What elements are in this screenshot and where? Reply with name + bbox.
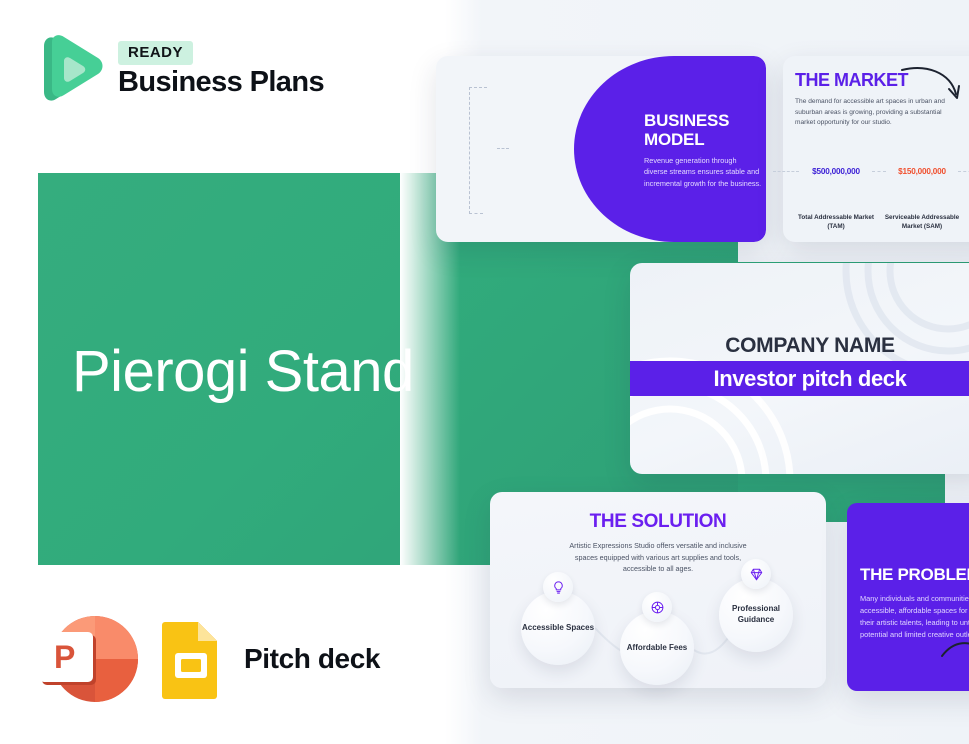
powerpoint-icon: P (38, 615, 138, 703)
diamond-icon (741, 559, 771, 589)
solution-pillar-label: Professional Guidance (719, 604, 793, 626)
connector-bottom (469, 213, 483, 214)
market-dashed-left (773, 171, 799, 172)
market-caption-sam: Serviceable Addressable Market (SAM) (876, 214, 968, 231)
google-slides-icon (160, 619, 222, 699)
target-icon (642, 592, 672, 622)
market-value-tam: $500,000,000 (798, 167, 874, 176)
company-name-subtitle-bar: Investor pitch deck (630, 361, 969, 396)
solution-pillar-label: Affordable Fees (627, 643, 687, 654)
squiggle-icon (940, 636, 969, 662)
poster-canvas: READY Business Plans Pierogi Stand $ Dro… (0, 0, 969, 744)
footer-label: Pitch deck (244, 643, 380, 675)
connector-vertical (469, 87, 470, 214)
solution-body: Artistic Expressions Studio offers versa… (558, 540, 758, 575)
market-title: THE MARKET (795, 70, 908, 91)
business-model-title: BUSINESS MODEL (644, 111, 764, 149)
curved-arrow-icon (900, 64, 966, 106)
solution-title: THE SOLUTION (490, 511, 826, 533)
lightbulb-icon (543, 572, 573, 602)
solution-pillar[interactable]: Accessible Spaces (521, 591, 595, 665)
brand-logo-text: READY Business Plans (118, 41, 324, 97)
page-title: Pierogi Stand (72, 340, 414, 404)
business-model-body: Revenue generation through diverse strea… (644, 155, 762, 189)
brand-name: Business Plans (118, 67, 324, 97)
svg-text:P: P (54, 639, 75, 675)
brand-logo: READY Business Plans (38, 32, 324, 106)
ready-badge: READY (118, 41, 193, 65)
problem-body: Many individuals and communities lack ac… (860, 593, 969, 641)
market-value-sam: $150,000,000 (884, 167, 960, 176)
solution-pillar[interactable]: Affordable Fees (620, 611, 694, 685)
company-name-subtitle: Investor pitch deck (630, 361, 969, 396)
company-name-title: COMPANY NAME (630, 334, 969, 358)
play-triangle-logo-icon (38, 32, 104, 106)
market-caption-tam: Total Addressable Market (TAM) (792, 214, 880, 231)
connector-top (469, 87, 487, 88)
solution-pillar-label: Accessible Spaces (522, 623, 594, 634)
connector-middle (497, 148, 509, 149)
problem-title: THE PROBLEM (860, 565, 969, 585)
solution-pillar[interactable]: Professional Guidance (719, 578, 793, 652)
footer-bar: P Pitch deck (38, 615, 380, 703)
